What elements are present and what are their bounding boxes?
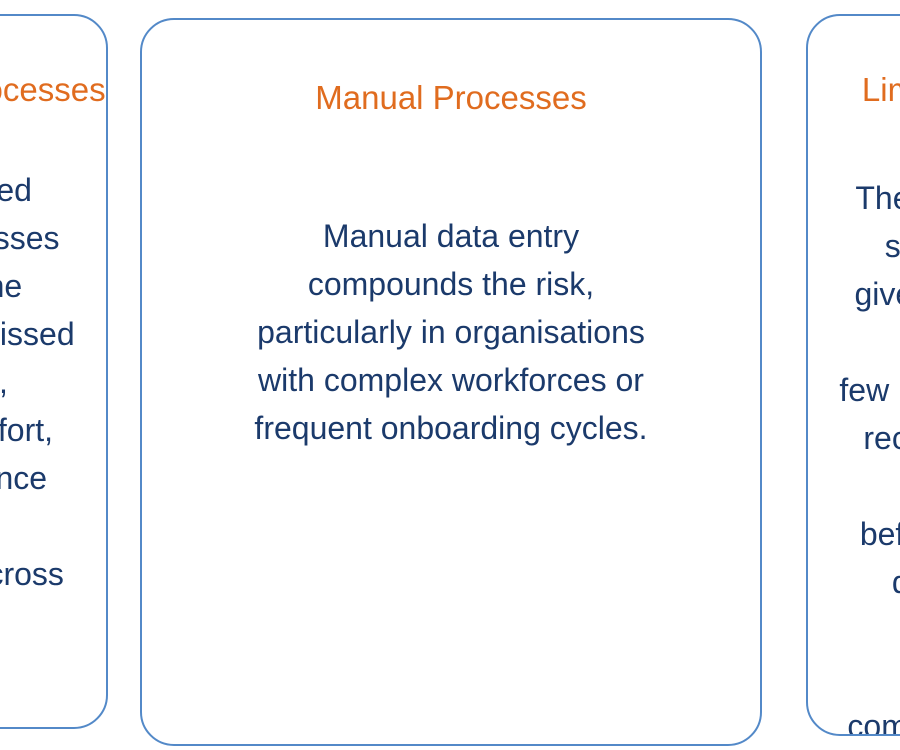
manual-processes-body-line: compounds the risk, [308,266,594,302]
right-card-body-line: gives finance and HR teams [854,276,900,360]
right-card-title: Limited Visibility [808,70,900,110]
right-card-body-line: few reliable ways to [839,372,900,408]
manual-processes-body-line: frequent onboarding cycles. [254,410,647,446]
manual-processes-card-body: Manual data entry compounds the risk, pa… [142,212,760,452]
slide-canvas: Fragmented Processes Disconnected payrol… [0,0,900,750]
right-card-body-line: compliance errors. [847,708,900,736]
left-card-body: Disconnected payroll processes increase … [0,166,106,646]
manual-processes-card-title: Manual Processes [142,78,760,118]
left-card-body-line: increase the likelihood of missed [0,268,75,352]
manual-processes-body-line: Manual data entry [323,218,579,254]
left-card-body-line: particularly across regions. [0,556,64,640]
left-card-body-line: deadlines, duplicated effort, [0,364,53,448]
left-card-body-line: Disconnected payroll processes [0,172,60,256]
manual-processes-body-line: particularly in organisations [257,314,645,350]
right-card-body-line: The absence of a single source [855,180,900,264]
right-card-body-line: reconcile payroll data [863,420,900,504]
left-card[interactable]: Fragmented Processes Disconnected payrol… [0,14,108,729]
manual-processes-body-line: with complex workforces or [258,362,644,398]
right-card[interactable]: Limited Visibility The absence of a sing… [806,14,900,736]
right-card-body-spacer [834,654,900,702]
manual-processes-card[interactable]: Manual Processes Manual data entry compo… [140,18,762,746]
left-card-body-line: and compliance errors, [0,460,47,544]
left-card-title: Fragmented Processes [0,70,106,110]
right-card-body: The absence of a single source gives fin… [808,174,900,736]
right-card-body-line: before it reaches downstream [860,516,900,600]
